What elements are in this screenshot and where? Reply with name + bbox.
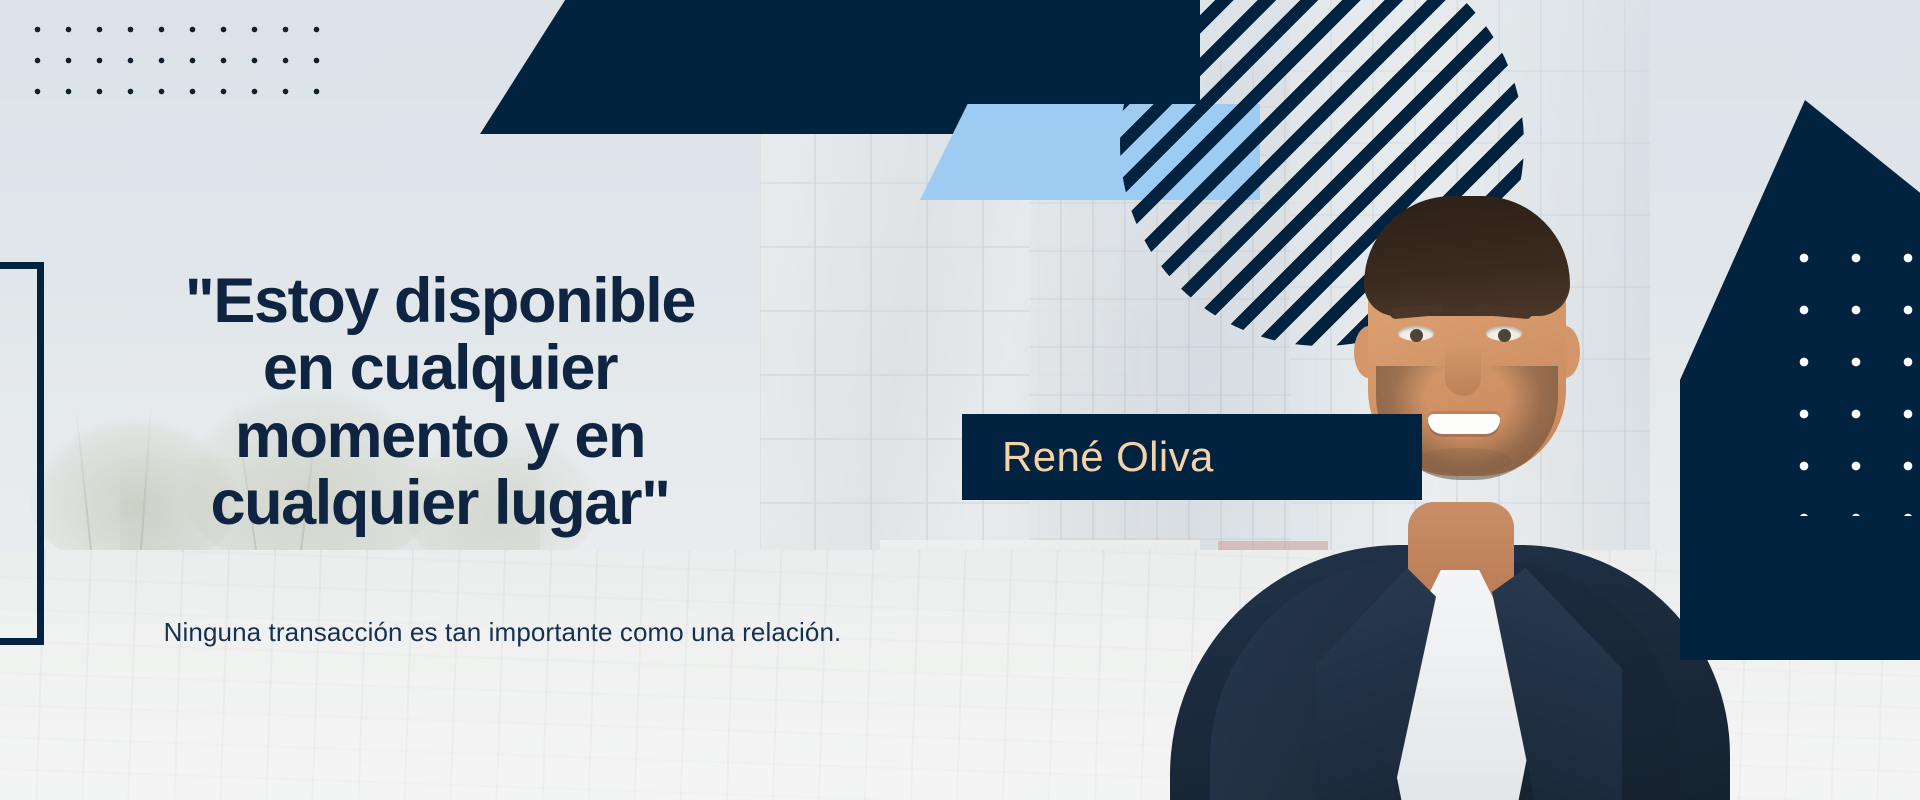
nose [1445,344,1481,396]
headline-line-1: "Estoy disponible [0,268,880,335]
chin [1416,448,1512,474]
headline-line-4: cualquier lugar" [0,470,880,537]
quote-headline: "Estoy disponible en cualquier momento y… [0,268,880,538]
headline-line-2: en cualquier [0,335,880,402]
agent-name-bar: René Oliva [962,414,1422,500]
agent-quote-banner: "Estoy disponible en cualquier momento y… [0,0,1920,800]
mouth [1428,414,1500,434]
hair [1364,196,1570,316]
headline-line-3: momento y en [0,403,880,470]
quote-subtitle: Ninguna transacción es tan importante co… [0,617,1005,648]
dot-grid-icon [20,8,340,118]
agent-name-label: René Oliva [962,433,1214,481]
pupil-left [1410,329,1423,342]
pupil-right [1498,329,1511,342]
dot-grid-icon [1774,226,1920,516]
